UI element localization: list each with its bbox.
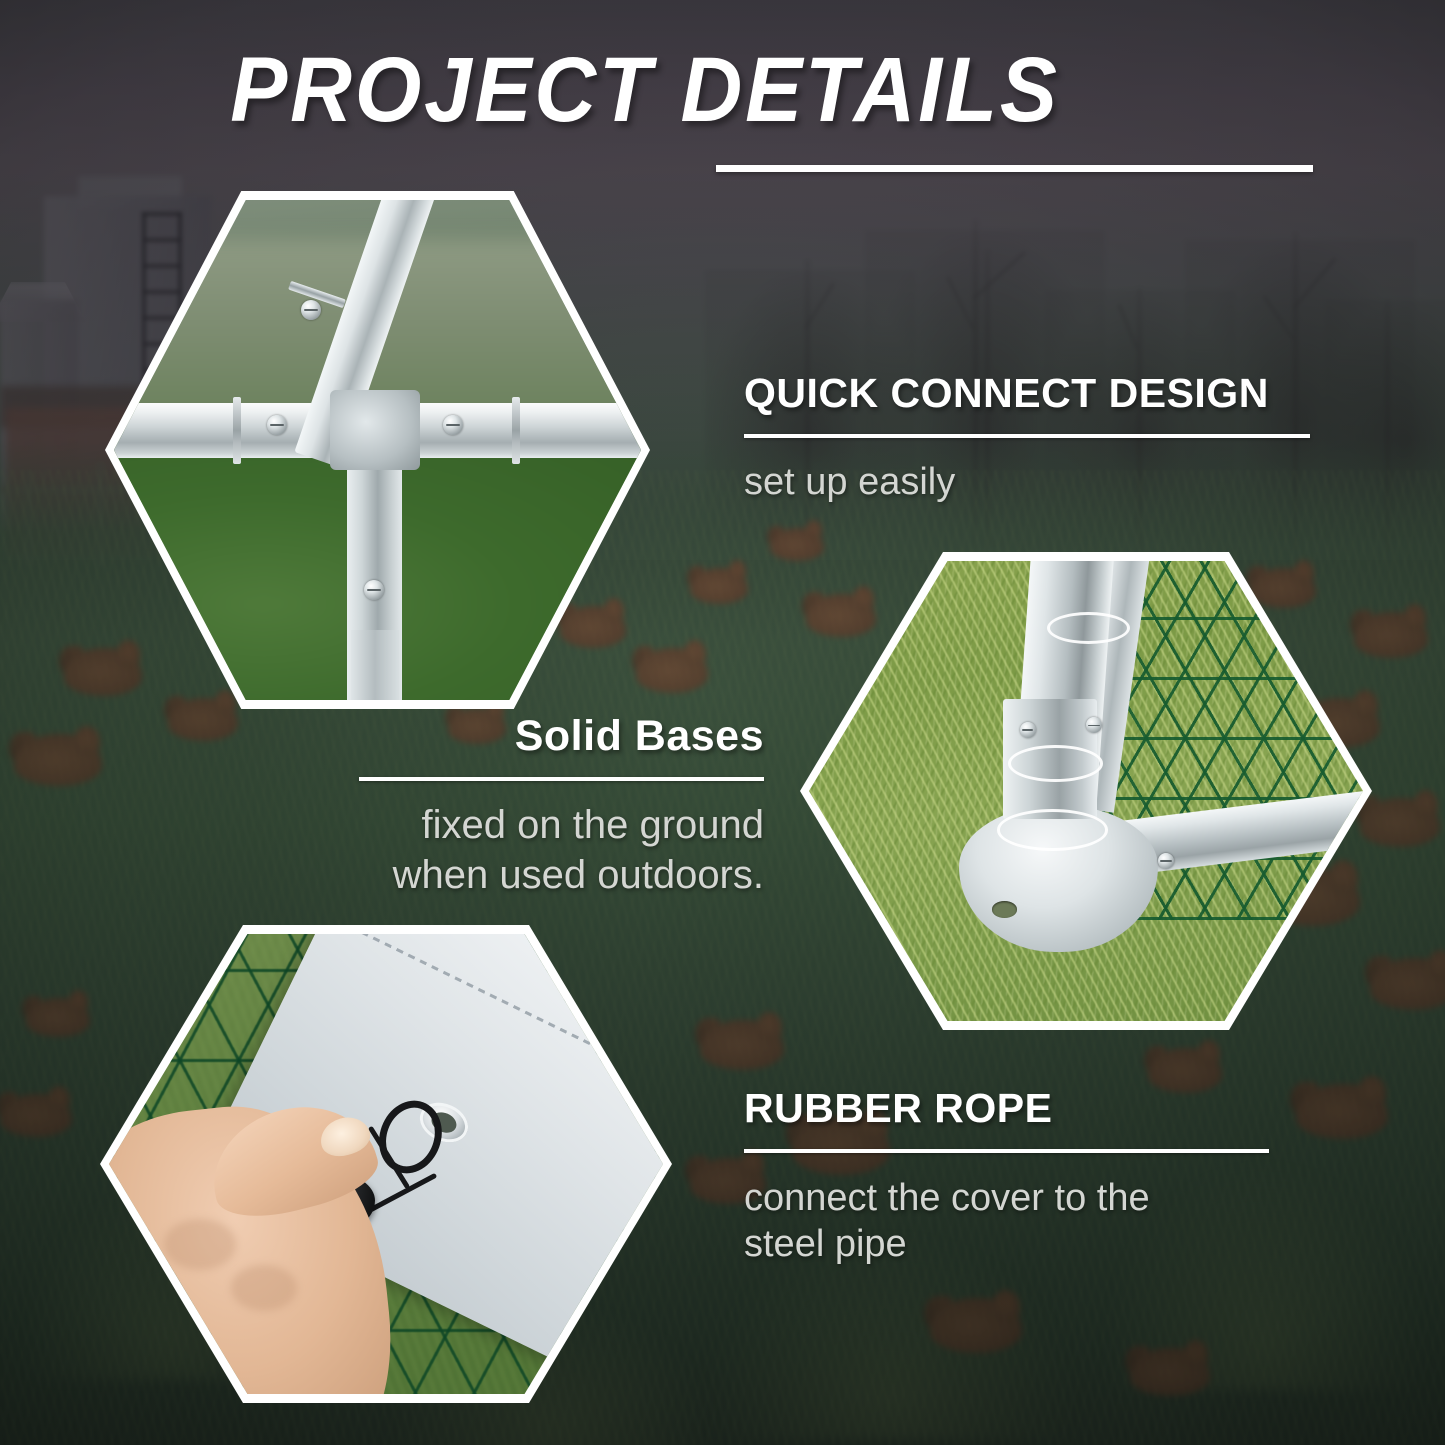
page-title: PROJECT DETAILS [45, 38, 1245, 143]
feature-image-quick-connect [105, 191, 650, 709]
feature-text-rubber-rope: RUBBER ROPE connect the cover to the ste… [744, 1085, 1344, 1268]
feature-subtext-line-2: when used outdoors. [280, 851, 764, 901]
feature-subtext: set up easily [744, 460, 1344, 505]
screw-icon [267, 415, 287, 435]
photo-ball-bungee-and-cover [109, 934, 663, 1394]
feature-heading: QUICK CONNECT DESIGN [744, 370, 1344, 417]
feature-heading: RUBBER ROPE [744, 1085, 1344, 1132]
screw-icon [1158, 853, 1174, 869]
title-underline [716, 165, 1313, 172]
feature-divider [744, 1149, 1269, 1153]
feature-image-rubber-rope [100, 925, 672, 1403]
feature-heading: Solid Bases [280, 712, 764, 761]
feature-text-solid-bases: Solid Bases fixed on the ground when use… [280, 712, 764, 900]
feature-image-solid-bases [800, 552, 1372, 1030]
screw-icon [301, 300, 321, 320]
feature-divider [359, 777, 764, 781]
feature-divider [744, 434, 1310, 438]
photo-base-plate-on-grass [809, 561, 1363, 1021]
photo-pipe-cross-joint [114, 200, 641, 700]
feature-subtext-line-2: steel pipe [744, 1221, 1344, 1267]
feature-subtext-line-1: connect the cover to the [744, 1175, 1344, 1221]
feature-subtext-line-1: fixed on the ground [280, 801, 764, 851]
feature-text-quick-connect: QUICK CONNECT DESIGN set up easily [744, 370, 1344, 505]
screw-icon [1020, 722, 1036, 738]
